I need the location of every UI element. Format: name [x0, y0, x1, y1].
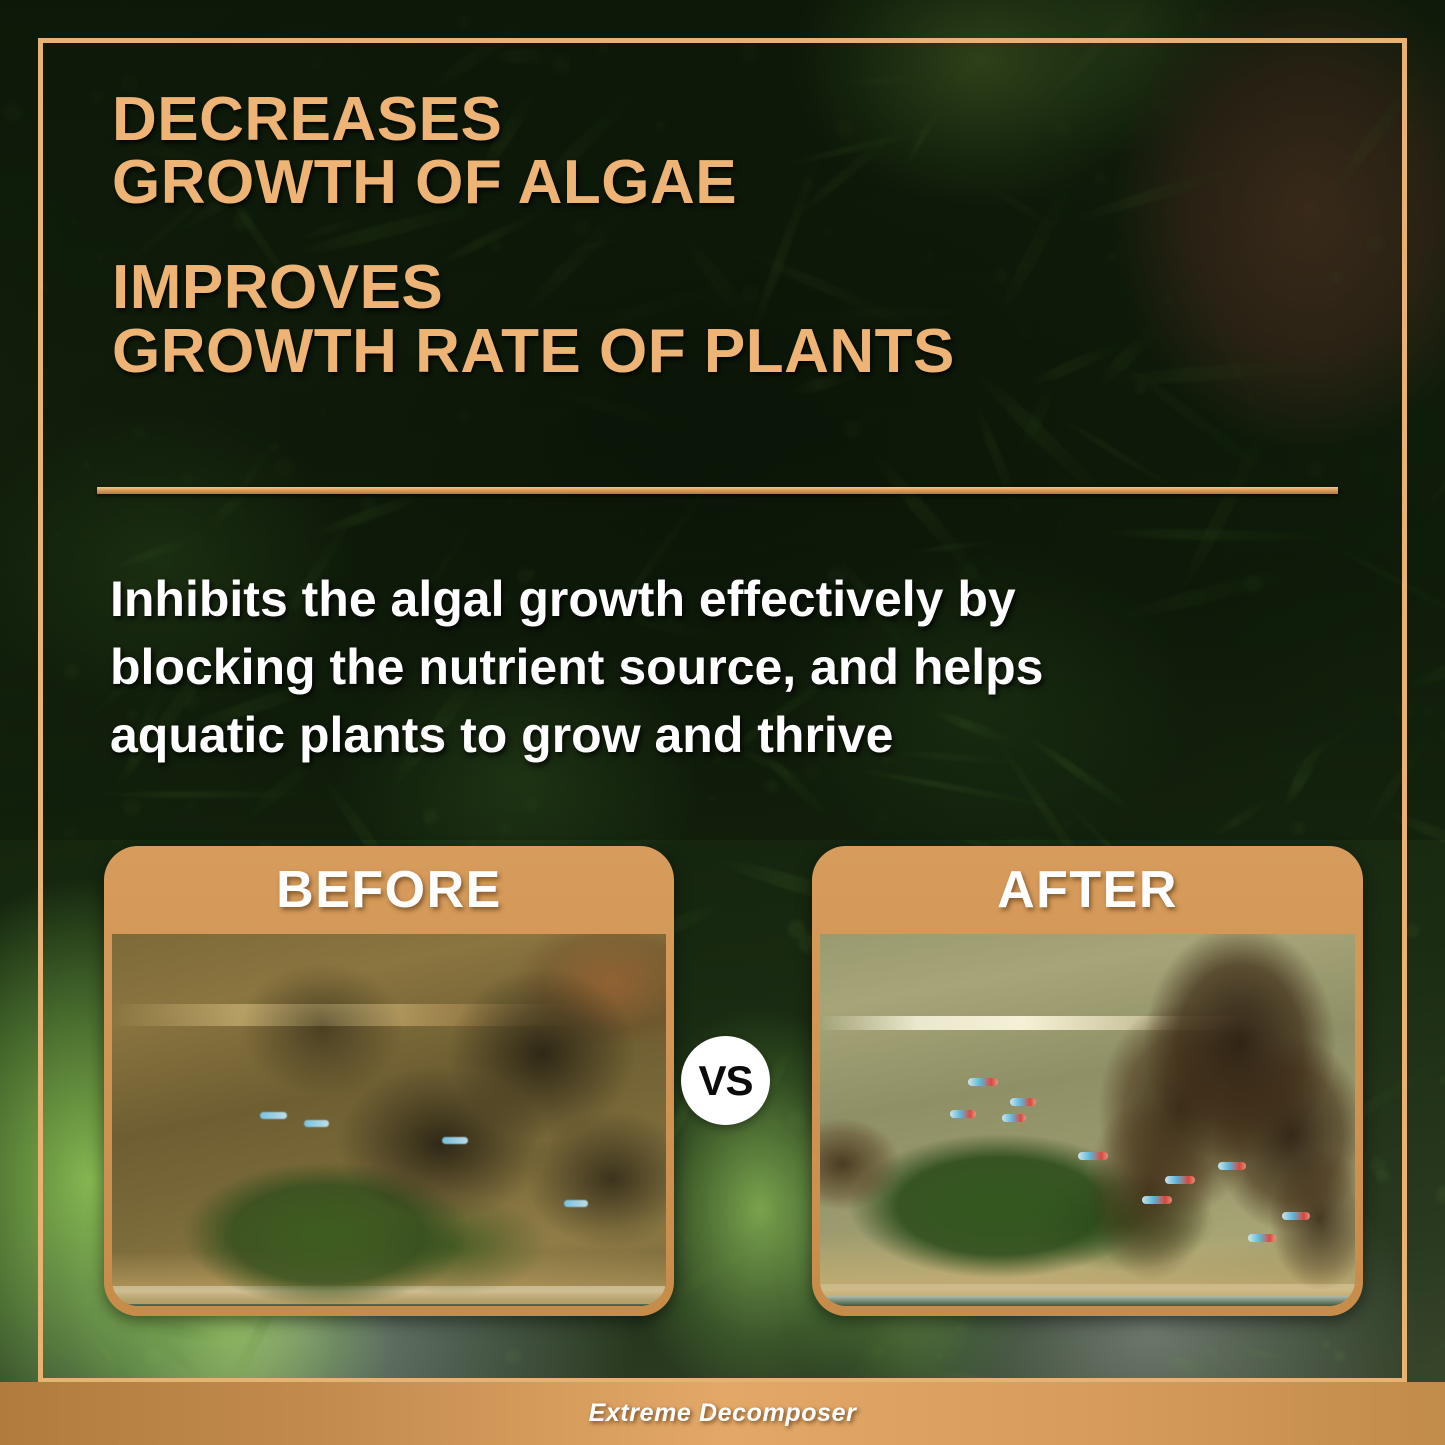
after-fish-1: [968, 1078, 998, 1086]
before-card: BEFORE: [104, 846, 674, 1316]
footer-brand-bar: Extreme Decomposer: [0, 1382, 1445, 1445]
before-label: BEFORE: [104, 846, 674, 934]
after-fish-3: [950, 1110, 976, 1118]
headline-line-2: GROWTH OF ALGAE: [112, 151, 1172, 214]
description-text: Inhibits the algal growth effectively by…: [110, 565, 1310, 769]
product-infographic: DECREASES GROWTH OF ALGAE IMPROVES GROWT…: [0, 0, 1445, 1445]
headline-block-algae: DECREASES GROWTH OF ALGAE: [112, 88, 1172, 214]
before-fish-4: [564, 1200, 588, 1207]
vs-badge: VS: [681, 1036, 770, 1125]
description-line-3: aquatic plants to grow and thrive: [110, 701, 1310, 769]
after-fish-6: [1218, 1162, 1246, 1170]
after-fish-10: [1248, 1234, 1276, 1242]
headline-line-3: IMPROVES: [112, 256, 1172, 319]
before-photo: [112, 934, 666, 1306]
after-fish-8: [1142, 1196, 1172, 1204]
before-aquarium-image: [112, 934, 666, 1306]
brand-name: Extreme Decomposer: [589, 1399, 857, 1428]
after-fish-4: [1002, 1114, 1026, 1122]
page-title: DECREASES GROWTH OF ALGAE IMPROVES GROWT…: [112, 88, 1172, 383]
after-aquarium-image: [820, 934, 1355, 1306]
after-fish-9: [1282, 1212, 1310, 1220]
after-card: AFTER: [812, 846, 1363, 1316]
before-fish-3: [442, 1137, 468, 1144]
before-fish-2: [304, 1120, 329, 1127]
section-divider: [97, 487, 1338, 494]
after-label: AFTER: [812, 846, 1363, 934]
headline-line-1: DECREASES: [112, 88, 1172, 151]
description-line-2: blocking the nutrient source, and helps: [110, 633, 1310, 701]
description-line-1: Inhibits the algal growth effectively by: [110, 565, 1310, 633]
after-photo: [820, 934, 1355, 1306]
headline-block-plants: IMPROVES GROWTH RATE OF PLANTS: [112, 256, 1172, 382]
after-fish-2: [1010, 1098, 1036, 1106]
after-fish-5: [1078, 1152, 1108, 1160]
headline-line-4: GROWTH RATE OF PLANTS: [112, 320, 1172, 383]
after-fish-7: [1165, 1176, 1195, 1184]
before-fish-1: [260, 1112, 287, 1119]
